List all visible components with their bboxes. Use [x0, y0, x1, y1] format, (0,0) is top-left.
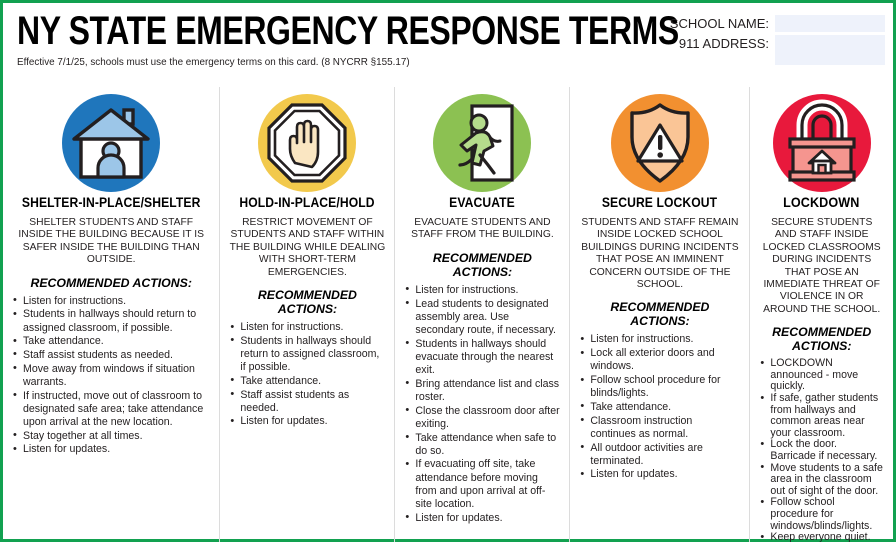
list-item: Students in hallways should return to as…	[12, 308, 210, 334]
term-definition: SHELTER STUDENTS AND STAFF INSIDE THE BU…	[12, 217, 210, 267]
list-item: Listen for instructions.	[12, 295, 210, 308]
term-column-shelter-in-place: SHELTER-IN-PLACE/SHELTER SHELTER STUDENT…	[3, 87, 219, 542]
term-name: SECURE LOCKOUT	[587, 195, 732, 210]
term-name: LOCKDOWN	[766, 195, 878, 210]
term-column-secure-lockout: SECURE LOCKOUT STUDENTS AND STAFF REMAIN…	[569, 87, 749, 542]
list-item: Students in hallways should evacuate thr…	[404, 338, 560, 378]
list-item: Lock the door. Barricade if necessary.	[759, 439, 884, 462]
actions-heading: RECOMMENDED ACTIONS:	[12, 276, 210, 290]
address-row: 911 ADDRESS:	[653, 35, 885, 65]
list-item: If evacuating off site, take attendance …	[404, 458, 560, 511]
shield-warning-icon	[579, 91, 740, 195]
padlock-house-icon	[759, 91, 884, 195]
list-item: Listen for updates.	[404, 512, 560, 525]
list-item: Listen for instructions.	[579, 333, 740, 346]
list-item: Take attendance.	[579, 401, 740, 414]
list-item: Take attendance when safe to do so.	[404, 432, 560, 458]
actions-list-shelter-in-place: Listen for instructions. Students in hal…	[12, 295, 210, 457]
stop-hand-octagon-icon	[229, 91, 385, 195]
address-label: 911 ADDRESS:	[679, 35, 775, 52]
list-item: Close the classroom door after exiting.	[404, 405, 560, 431]
list-item: LOCKDOWN announced - move quickly.	[759, 358, 884, 393]
list-item: Stay together at all times.	[12, 430, 210, 443]
house-with-person-icon	[12, 91, 210, 195]
term-column-lockdown: LOCKDOWN SECURE STUDENTS AND STAFF INSID…	[749, 87, 893, 542]
school-name-label: SCHOOL NAME:	[670, 15, 775, 32]
list-item: Follow school procedure for blinds/light…	[579, 374, 740, 400]
list-item: Staff assist students as needed.	[229, 389, 385, 415]
actions-heading: RECOMMENDED ACTIONS:	[579, 300, 740, 328]
term-name: EVACUATE	[412, 195, 552, 210]
actions-heading: RECOMMENDED ACTIONS:	[229, 288, 385, 316]
page-title: NY STATE EMERGENCY RESPONSE TERMS	[17, 9, 718, 53]
term-definition: RESTRICT MOVEMENT OF STUDENTS AND STAFF …	[229, 217, 385, 279]
list-item: Bring attendance list and class roster.	[404, 378, 560, 404]
emergency-response-card: NY STATE EMERGENCY RESPONSE TERMS Effect…	[0, 0, 896, 542]
running-person-exit-icon	[404, 91, 560, 195]
list-item: Students in hallways should return to as…	[229, 335, 385, 375]
card-header: NY STATE EMERGENCY RESPONSE TERMS Effect…	[3, 3, 893, 87]
list-item: Listen for instructions.	[229, 321, 385, 334]
term-definition: SECURE STUDENTS AND STAFF INSIDE LOCKED …	[759, 217, 884, 316]
terms-columns: SHELTER-IN-PLACE/SHELTER SHELTER STUDENT…	[3, 87, 893, 542]
list-item: Keep everyone quiet. Silence cell phones…	[759, 532, 884, 542]
actions-list-lockdown: LOCKDOWN announced - move quickly. If sa…	[759, 358, 884, 542]
school-name-input[interactable]	[775, 15, 885, 32]
list-item: Lock all exterior doors and windows.	[579, 347, 740, 373]
school-name-row: SCHOOL NAME:	[653, 15, 885, 32]
term-definition: STUDENTS AND STAFF REMAIN INSIDE LOCKED …	[579, 217, 740, 291]
actions-heading: RECOMMENDED ACTIONS:	[759, 325, 884, 353]
list-item: Take attendance.	[229, 375, 385, 388]
term-column-evacuate: EVACUATE EVACUATE STUDENTS AND STAFF FRO…	[394, 87, 569, 542]
actions-list-secure-lockout: Listen for instructions. Lock all exteri…	[579, 333, 740, 482]
list-item: If safe, gather students from hallways a…	[759, 393, 884, 439]
list-item: Take attendance.	[12, 335, 210, 348]
list-item: Lead students to designated assembly are…	[404, 298, 560, 338]
list-item: Staff assist students as needed.	[12, 349, 210, 362]
list-item: If instructed, move out of classroom to …	[12, 390, 210, 430]
actions-list-hold-in-place: Listen for instructions. Students in hal…	[229, 321, 385, 429]
school-info-form: SCHOOL NAME: 911 ADDRESS:	[653, 15, 885, 68]
list-item: Listen for updates.	[12, 443, 210, 456]
term-column-hold-in-place: HOLD-IN-PLACE/HOLD RESTRICT MOVEMENT OF …	[219, 87, 394, 542]
term-name: SHELTER-IN-PLACE/SHELTER	[22, 195, 201, 210]
list-item: Listen for updates.	[579, 468, 740, 481]
term-definition: EVACUATE STUDENTS AND STAFF FROM THE BUI…	[404, 217, 560, 242]
list-item: Listen for updates.	[229, 415, 385, 428]
list-item: Listen for instructions.	[404, 284, 560, 297]
list-item: Classroom instruction continues as norma…	[579, 415, 740, 441]
term-name: HOLD-IN-PLACE/HOLD	[237, 195, 377, 210]
actions-list-evacuate: Listen for instructions. Lead students t…	[404, 284, 560, 526]
actions-heading: RECOMMENDED ACTIONS:	[404, 251, 560, 279]
address-input[interactable]	[775, 35, 885, 65]
list-item: Move students to a safe area in the clas…	[759, 463, 884, 498]
list-item: All outdoor activities are terminated.	[579, 442, 740, 468]
list-item: Move away from windows if situation warr…	[12, 363, 210, 389]
list-item: Follow school procedure for windows/blin…	[759, 497, 884, 532]
